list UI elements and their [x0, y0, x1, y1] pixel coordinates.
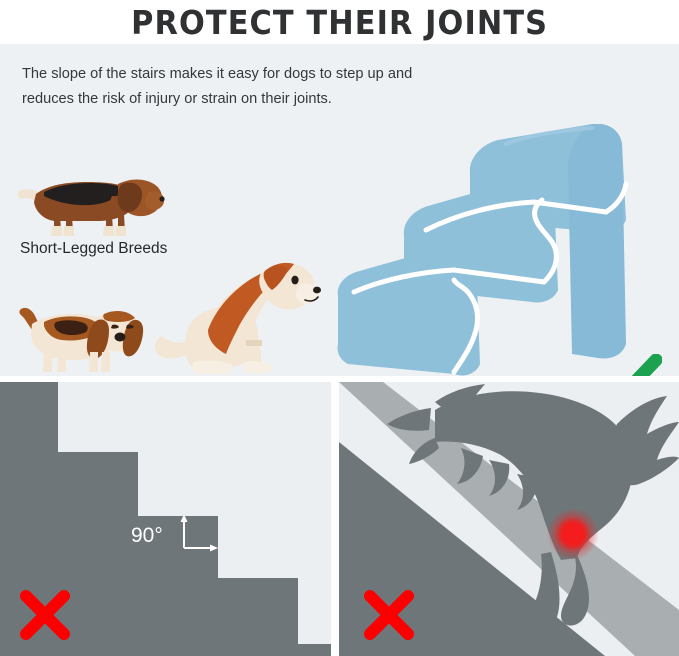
description-text: The slope of the stairs makes it easy fo… — [22, 62, 522, 112]
infographic-page: PROTECT THEIR JOINTS The slope of the st… — [0, 0, 679, 656]
sitting-dog-illustration — [150, 258, 326, 376]
check-icon — [588, 354, 662, 376]
caption-short-legged-breeds: Short-Legged Breeds — [20, 240, 167, 258]
angle-label: 90° — [131, 524, 163, 548]
dachshund-dog-illustration — [14, 156, 166, 238]
description-line-2: reduces the risk of injury or strain on … — [22, 87, 522, 112]
x-icon — [18, 588, 72, 642]
basset-hound-dog-illustration — [14, 292, 150, 376]
blue-pet-stairs-illustration — [330, 124, 662, 376]
top-panel: The slope of the stairs makes it easy fo… — [0, 44, 679, 376]
x-icon — [362, 588, 416, 642]
page-title: PROTECT THEIR JOINTS — [131, 3, 548, 42]
title-bar: PROTECT THEIR JOINTS — [0, 0, 679, 44]
description-line-1: The slope of the stairs makes it easy fo… — [22, 66, 412, 82]
